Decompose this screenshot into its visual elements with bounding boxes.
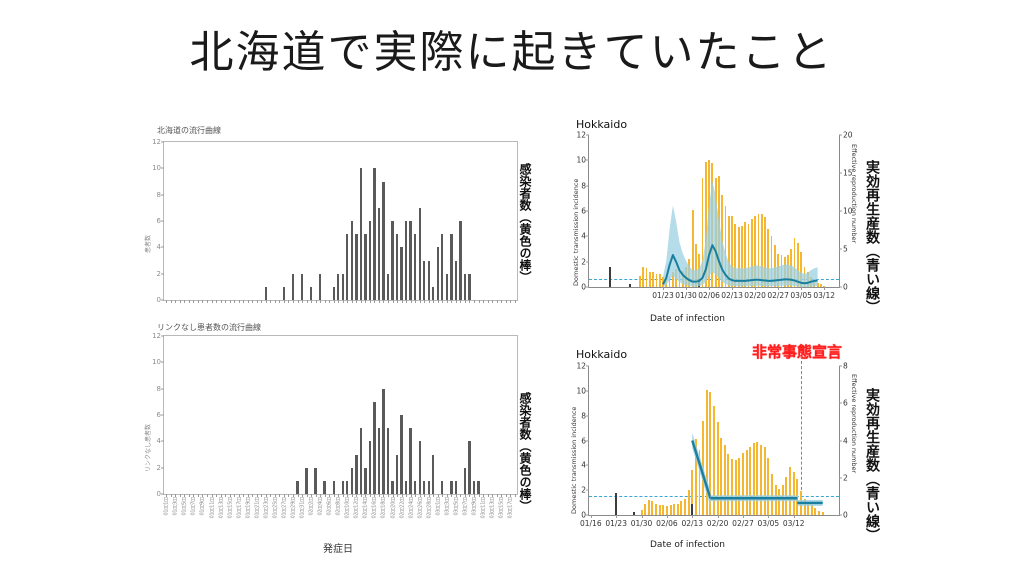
x-tick-mark <box>732 287 733 290</box>
y-tick-label: 12 <box>152 138 161 146</box>
x-tick-mark <box>794 515 795 518</box>
y-tick-mark <box>161 415 164 416</box>
x-tick-mark <box>307 300 308 303</box>
plot-area-top-right: 0246810120510152001/2301/3002/0602/1302/… <box>588 135 840 288</box>
x-tick-mark <box>497 300 498 303</box>
x-tick-mark <box>298 300 299 303</box>
x-tick-label: 03/12 <box>783 519 805 528</box>
x-tick-label: 03月13日 <box>489 497 496 519</box>
bar <box>382 182 384 301</box>
bar <box>342 274 344 300</box>
bar <box>428 481 430 494</box>
bar <box>464 468 466 494</box>
x-tick-mark <box>189 300 190 303</box>
x-tick-mark <box>515 494 516 497</box>
x-tick-mark <box>288 300 289 303</box>
y-tick-mark <box>161 388 164 389</box>
y-tick-mark-right <box>839 249 842 250</box>
x-tick-mark <box>198 300 199 303</box>
x-tick-mark <box>411 300 412 303</box>
x-tick-label: 01/30 <box>631 519 653 528</box>
bar <box>423 261 425 301</box>
chart-bottom-left: リンクなし患者数の流行曲線 02468101201月1日01月3日01月5日01… <box>145 322 535 557</box>
x-axis-label-top-right: Date of infection <box>650 314 725 324</box>
y-tick-mark-right <box>839 173 842 174</box>
x-tick-mark <box>343 300 344 303</box>
x-tick-mark <box>175 300 176 303</box>
x-tick-label: 02月8日 <box>335 497 342 516</box>
bar <box>355 455 357 495</box>
x-tick-label: 01月31日 <box>299 497 306 519</box>
chart-title-top-left: 北海道の流行曲線 <box>157 125 221 136</box>
y-tick-mark <box>161 194 164 195</box>
y-tick-label-right: 20 <box>843 131 853 140</box>
x-tick-label: 03月11日 <box>480 497 487 519</box>
x-tick-mark <box>334 300 335 303</box>
x-tick-mark <box>356 300 357 303</box>
y-tick-mark <box>161 300 164 301</box>
y-tick-label-left: 10 <box>576 156 586 165</box>
bar <box>391 221 393 300</box>
reproduction-number-line <box>692 441 710 499</box>
x-tick-mark <box>329 300 330 303</box>
x-tick-label: 02月22日 <box>398 497 405 519</box>
x-tick-mark <box>397 300 398 303</box>
x-tick-mark <box>479 300 480 303</box>
x-tick-mark <box>275 300 276 303</box>
bar <box>364 468 366 494</box>
x-tick-label: 03月9日 <box>471 497 478 516</box>
y-axis-jp-right-label-top-right: 実効再生産数（青い線） <box>865 160 879 314</box>
x-tick-mark <box>383 300 384 303</box>
x-tick-label: 02月20日 <box>389 497 396 519</box>
x-tick-mark <box>442 300 443 303</box>
x-tick-mark <box>316 300 317 303</box>
bar <box>378 428 380 494</box>
y-tick-mark <box>161 467 164 468</box>
bar <box>400 415 402 494</box>
bar <box>378 208 380 300</box>
y-tick-mark <box>161 336 164 337</box>
x-tick-mark <box>768 515 769 518</box>
x-tick-mark <box>374 300 375 303</box>
y-tick-mark <box>161 168 164 169</box>
x-tick-label: 02月26日 <box>416 497 423 519</box>
bar <box>382 389 384 494</box>
x-tick-mark <box>420 300 421 303</box>
bar <box>333 481 335 494</box>
x-tick-mark <box>743 515 744 518</box>
bar <box>455 481 457 494</box>
bar <box>373 402 375 494</box>
x-tick-mark <box>184 300 185 303</box>
x-tick-mark <box>193 300 194 303</box>
x-tick-mark <box>824 287 825 290</box>
bar <box>283 287 285 300</box>
x-tick-mark <box>379 300 380 303</box>
x-tick-mark <box>709 287 710 290</box>
bar <box>450 234 452 300</box>
bar <box>405 481 407 494</box>
x-tick-mark <box>212 300 213 303</box>
x-tick-mark <box>302 300 303 303</box>
bar <box>346 234 348 300</box>
bar <box>314 468 316 494</box>
chart-bottom-right: Hokkaido 0246810120246801/1601/2301/3002… <box>560 348 900 563</box>
bar <box>409 428 411 494</box>
x-tick-mark <box>252 300 253 303</box>
bar <box>319 274 321 300</box>
y-tick-mark <box>161 142 164 143</box>
x-tick-label: 01月27日 <box>280 497 287 519</box>
x-tick-mark <box>320 300 321 303</box>
x-tick-mark <box>460 300 461 303</box>
bar <box>296 481 298 494</box>
chart-top-right: Hokkaido 0246810120510152001/2301/3002/0… <box>560 118 900 343</box>
x-tick-mark <box>424 300 425 303</box>
x-tick-mark <box>663 287 664 290</box>
x-tick-label: 01月11日 <box>208 497 215 519</box>
bar <box>360 428 362 494</box>
x-tick-label: 01月15日 <box>226 497 233 519</box>
x-tick-label: 01月3日 <box>172 497 179 516</box>
x-tick-label: 02月4日 <box>317 497 324 516</box>
page-title: 北海道で実際に起きていたこと <box>0 16 1023 80</box>
y-tick-label-right: 5 <box>843 245 848 254</box>
x-tick-label: 02月16日 <box>371 497 378 519</box>
x-tick-mark <box>642 515 643 518</box>
y-tick-mark <box>161 247 164 248</box>
y-axis-en-label-top-right: Domestic transmission incidence <box>572 179 580 286</box>
y-tick-label-left: 12 <box>576 362 586 371</box>
bar <box>360 168 362 300</box>
x-tick-mark <box>166 300 167 303</box>
x-tick-mark <box>393 300 394 303</box>
bar <box>373 168 375 300</box>
x-tick-mark <box>207 300 208 303</box>
y-tick-mark-right <box>839 135 842 136</box>
x-tick-mark <box>311 300 312 303</box>
bar <box>333 287 335 300</box>
y-tick-mark-right <box>839 211 842 212</box>
reproduction-number-overlay <box>589 366 839 515</box>
y-tick-mark-right <box>839 477 842 478</box>
x-tick-label: 01/30 <box>675 291 697 300</box>
x-tick-mark <box>506 300 507 303</box>
y-axis-en-right-label-bottom-right: Effective reproduction number <box>850 374 858 473</box>
y-tick-mark <box>161 221 164 222</box>
bar <box>419 441 421 494</box>
plot-area-top-left: 024681012 <box>163 141 518 301</box>
x-tick-label: 02/06 <box>698 291 720 300</box>
x-tick-mark <box>755 287 756 290</box>
x-tick-label: 03月1日 <box>434 497 441 516</box>
x-axis-label-bottom-right: Date of infection <box>650 540 725 550</box>
bar <box>391 481 393 494</box>
bar <box>405 221 407 300</box>
x-tick-label: 01月13日 <box>217 497 224 519</box>
x-tick-mark <box>279 300 280 303</box>
y-tick-mark-right <box>839 440 842 441</box>
x-tick-label: 03/12 <box>813 291 835 300</box>
x-tick-label: 02月18日 <box>380 497 387 519</box>
bar <box>419 208 421 300</box>
x-tick-mark <box>718 515 719 518</box>
x-tick-label: 02/13 <box>681 519 703 528</box>
bar <box>292 274 294 300</box>
x-tick-mark <box>171 300 172 303</box>
y-axis-jp-label-top-left: 感染者数（黄色の棒） <box>519 163 531 283</box>
bar <box>265 287 267 300</box>
x-tick-label: 01月21日 <box>253 497 260 519</box>
bar <box>464 274 466 300</box>
bar <box>477 481 479 494</box>
x-tick-label: 03月15日 <box>498 497 505 519</box>
x-tick-label: 02/27 <box>732 519 754 528</box>
x-tick-label: 02月12日 <box>353 497 360 519</box>
x-tick-label: 02/06 <box>656 519 678 528</box>
x-tick-label: 02/20 <box>707 519 729 528</box>
x-tick-mark <box>433 300 434 303</box>
bar <box>409 221 411 300</box>
x-tick-label: 01/16 <box>580 519 602 528</box>
bar <box>369 441 371 494</box>
bar <box>432 455 434 495</box>
y-tick-mark-right <box>839 515 842 516</box>
x-tick-mark <box>325 300 326 303</box>
x-tick-mark <box>474 300 475 303</box>
y-axis-label-bottom-left: リンクなし患者数 <box>143 424 152 472</box>
x-tick-mark <box>686 287 687 290</box>
bar <box>468 441 470 494</box>
x-tick-label: 01/23 <box>652 291 674 300</box>
bar <box>351 468 353 494</box>
x-tick-mark <box>402 300 403 303</box>
y-tick-mark-right <box>839 366 842 367</box>
chart-top-left: 北海道の流行曲線 024681012 患者数 <box>145 125 535 320</box>
y-tick-mark-right <box>839 287 842 288</box>
bar <box>441 234 443 300</box>
x-tick-mark <box>225 300 226 303</box>
x-tick-mark <box>591 515 592 518</box>
x-tick-mark <box>469 300 470 303</box>
y-tick-label-right: 8 <box>843 362 848 371</box>
x-tick-mark <box>347 300 348 303</box>
x-tick-mark <box>515 300 516 303</box>
x-tick-mark <box>616 515 617 518</box>
y-tick-mark <box>161 441 164 442</box>
bar <box>387 274 389 300</box>
x-tick-label: 02月14日 <box>362 497 369 519</box>
x-tick-mark <box>293 300 294 303</box>
bar <box>473 481 475 494</box>
bar <box>396 455 398 495</box>
x-tick-label: 01月1日 <box>163 497 170 516</box>
x-tick-label: 01月7日 <box>190 497 197 516</box>
bar <box>396 234 398 300</box>
bar <box>446 274 448 300</box>
x-tick-label: 02月2日 <box>308 497 315 516</box>
x-tick-label: 03月7日 <box>461 497 468 516</box>
x-tick-mark <box>266 300 267 303</box>
x-tick-label: 01月23日 <box>262 497 269 519</box>
x-tick-mark <box>248 300 249 303</box>
y-tick-label: 12 <box>152 332 161 340</box>
x-tick-mark <box>456 300 457 303</box>
x-tick-mark <box>388 300 389 303</box>
chart-title-bottom-right: Hokkaido <box>576 348 627 361</box>
x-tick-mark <box>778 287 779 290</box>
y-tick-mark <box>161 362 164 363</box>
x-tick-mark <box>801 287 802 290</box>
y-tick-label: 10 <box>152 164 161 172</box>
x-tick-mark <box>370 300 371 303</box>
x-tick-mark <box>202 300 203 303</box>
y-tick-label-right: 0 <box>843 283 848 292</box>
x-tick-mark <box>415 300 416 303</box>
x-tick-mark <box>284 300 285 303</box>
x-tick-label: 02月10日 <box>344 497 351 519</box>
bar <box>387 428 389 494</box>
x-tick-label: 01月29日 <box>289 497 296 519</box>
x-tick-mark <box>483 300 484 303</box>
x-tick-label: 01/23 <box>605 519 627 528</box>
x-tick-mark <box>221 300 222 303</box>
x-tick-mark <box>488 300 489 303</box>
bar <box>337 274 339 300</box>
bar <box>450 481 452 494</box>
x-tick-mark <box>243 300 244 303</box>
bar <box>455 261 457 301</box>
y-axis-jp-right-label-bottom-right: 実効再生産数（青い線） <box>865 388 879 542</box>
x-tick-mark <box>180 300 181 303</box>
bar <box>310 287 312 300</box>
y-tick-label-right: 0 <box>843 511 848 520</box>
x-tick-mark <box>465 300 466 303</box>
x-tick-label: 02/27 <box>767 291 789 300</box>
bar <box>364 234 366 300</box>
x-tick-label: 03/05 <box>758 519 780 528</box>
y-tick-label: 10 <box>152 358 161 366</box>
bar <box>423 481 425 494</box>
x-tick-mark <box>230 300 231 303</box>
bar <box>346 481 348 494</box>
x-tick-label: 02月6日 <box>326 497 333 516</box>
x-tick-mark <box>667 515 668 518</box>
x-tick-mark <box>261 300 262 303</box>
chart-title-bottom-left: リンクなし患者数の流行曲線 <box>157 322 261 333</box>
x-tick-label: 02月28日 <box>425 497 432 519</box>
credible-interval-band <box>663 181 818 287</box>
x-tick-mark <box>429 300 430 303</box>
bar <box>400 247 402 300</box>
plot-area-bottom-left: 02468101201月1日01月3日01月5日01月7日01月9日01月11日… <box>163 335 518 495</box>
x-tick-mark <box>338 300 339 303</box>
x-tick-mark <box>365 300 366 303</box>
x-tick-label: 01月9日 <box>199 497 206 516</box>
x-tick-mark <box>216 300 217 303</box>
bar <box>342 481 344 494</box>
y-tick-mark <box>161 273 164 274</box>
x-tick-label: 03月3日 <box>443 497 450 516</box>
x-tick-mark <box>438 300 439 303</box>
bar <box>414 234 416 300</box>
x-tick-mark <box>270 300 271 303</box>
bar <box>369 221 371 300</box>
x-tick-label: 01月17日 <box>235 497 242 519</box>
y-tick-label-right: 6 <box>843 399 848 408</box>
bar <box>305 468 307 494</box>
y-axis-jp-label-bottom-left: 感染者数（黄色の棒） <box>519 392 531 512</box>
x-tick-mark <box>510 300 511 303</box>
bar <box>468 274 470 300</box>
bar <box>428 261 430 301</box>
x-tick-mark <box>234 300 235 303</box>
bar <box>301 274 303 300</box>
bar <box>355 234 357 300</box>
y-tick-mark <box>161 494 164 495</box>
y-tick-label-right: 2 <box>843 473 848 482</box>
bar <box>414 481 416 494</box>
x-tick-label: 03月17日 <box>507 497 514 519</box>
x-tick-label: 01月19日 <box>244 497 251 519</box>
bar <box>323 481 325 494</box>
x-tick-mark <box>257 300 258 303</box>
plot-area-bottom-right: 0246810120246801/1601/2301/3002/0602/130… <box>588 366 840 516</box>
y-tick-label-left: 10 <box>576 386 586 395</box>
x-tick-mark <box>447 300 448 303</box>
reproduction-number-overlay <box>589 135 839 287</box>
x-tick-label: 02月24日 <box>407 497 414 519</box>
y-axis-label-top-left: 患者数 <box>143 235 152 253</box>
y-tick-label-right: 4 <box>843 436 848 445</box>
x-tick-label: 01月25日 <box>271 497 278 519</box>
x-axis-label-bottom-left: 発症日 <box>323 540 353 555</box>
bar <box>351 221 353 300</box>
bar <box>441 481 443 494</box>
y-axis-en-label-bottom-right: Domestic transmission incidence <box>570 407 578 514</box>
bar <box>437 247 439 300</box>
x-tick-mark <box>239 300 240 303</box>
x-tick-label: 02/13 <box>721 291 743 300</box>
x-tick-mark <box>406 300 407 303</box>
y-tick-mark-right <box>839 403 842 404</box>
x-tick-label: 03/05 <box>790 291 812 300</box>
y-tick-label-left: 12 <box>576 131 586 140</box>
bar <box>459 221 461 300</box>
x-tick-mark <box>501 300 502 303</box>
x-tick-mark <box>692 515 693 518</box>
slide-root: 北海道で実際に起きていたこと 北海道の流行曲線 024681012 患者数 リン… <box>0 0 1023 572</box>
x-tick-mark <box>361 300 362 303</box>
x-tick-mark <box>352 300 353 303</box>
chart-title-top-right: Hokkaido <box>576 118 627 131</box>
y-axis-en-right-label-top-right: Effective reproduction number <box>850 144 858 243</box>
x-tick-label: 01月5日 <box>181 497 188 516</box>
x-tick-mark <box>451 300 452 303</box>
bar <box>432 287 434 300</box>
x-tick-label: 02/20 <box>744 291 766 300</box>
x-tick-mark <box>492 300 493 303</box>
x-tick-label: 03月5日 <box>452 497 459 516</box>
